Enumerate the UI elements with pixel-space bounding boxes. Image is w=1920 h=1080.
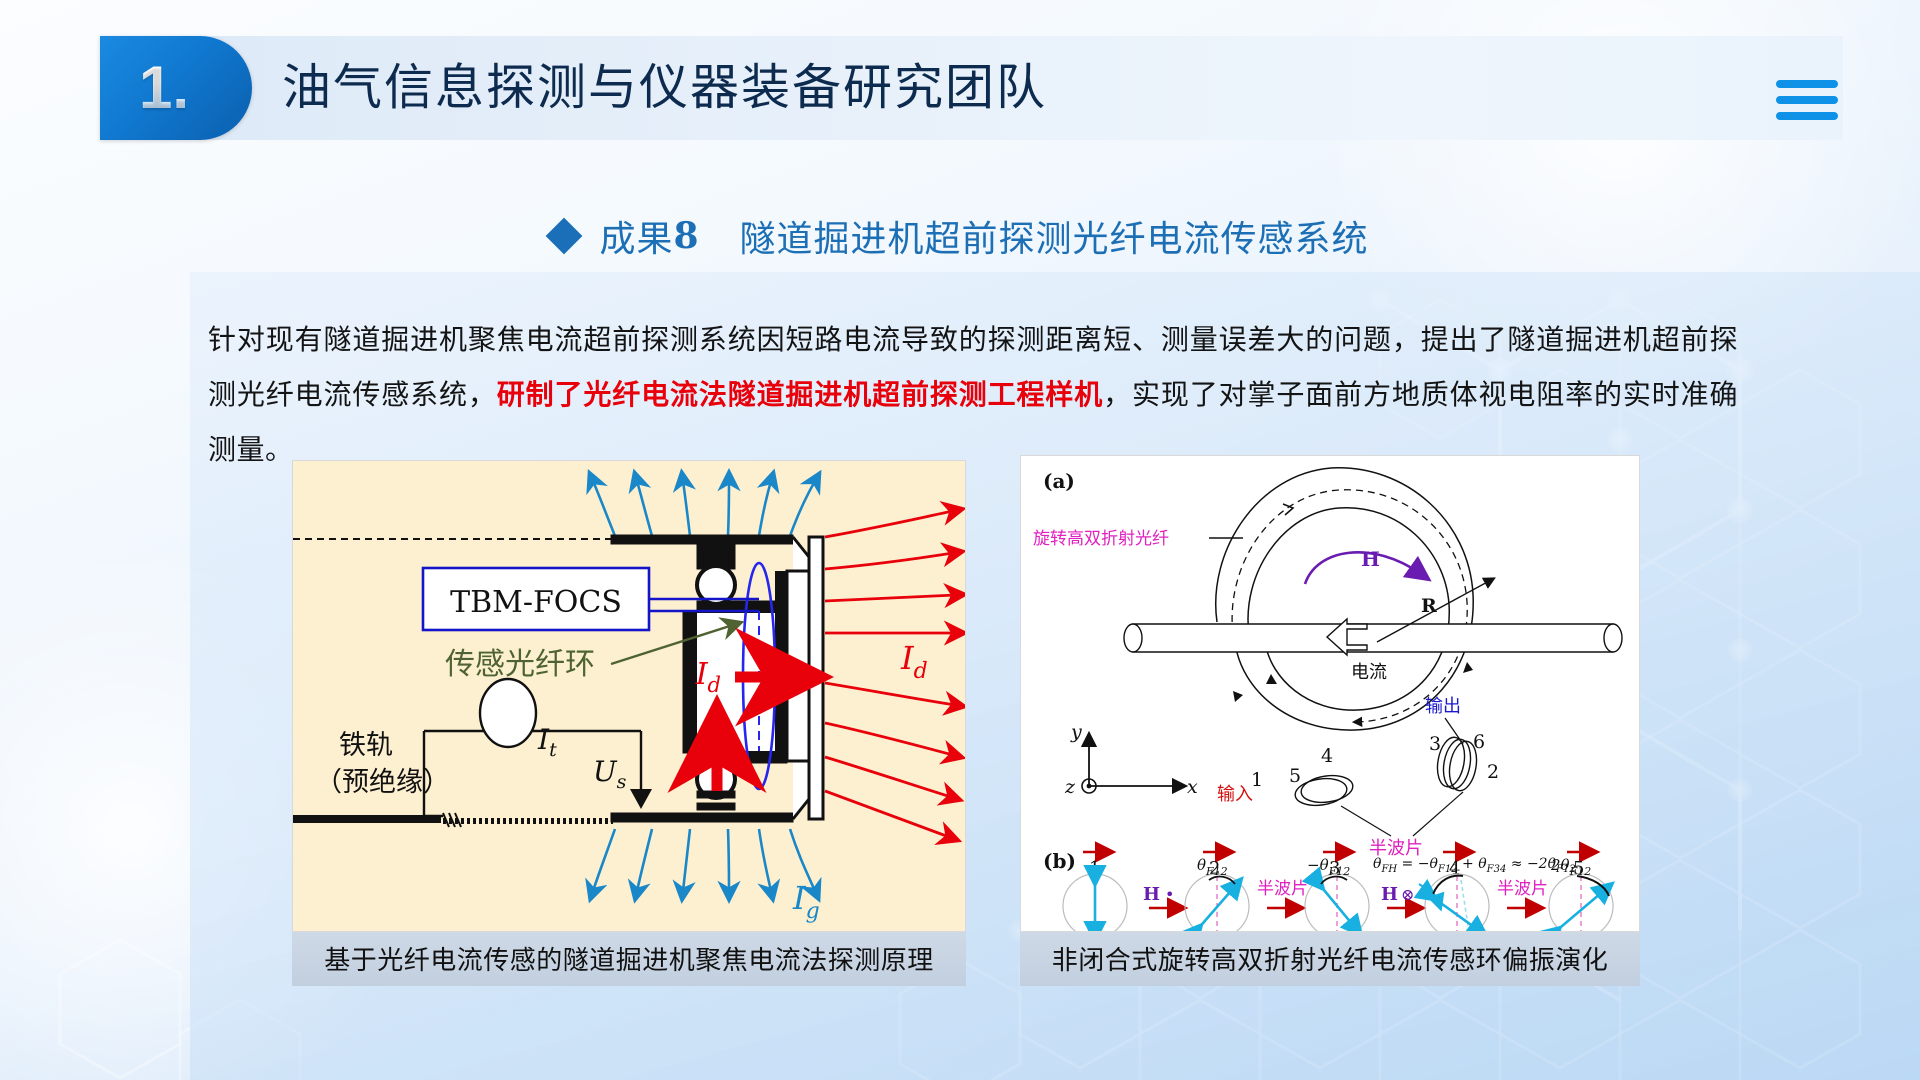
panel-a-tag: (a) bbox=[1043, 469, 1075, 493]
node-1: 1 bbox=[1251, 769, 1263, 791]
waveplate-label-b2: 半波片 bbox=[1497, 879, 1548, 899]
subtitle-index: 8 bbox=[673, 215, 699, 257]
current-ig-label: Ig bbox=[792, 879, 820, 924]
page-title: 油气信息探测与仪器装备研究团队 bbox=[282, 48, 1047, 119]
figure-left-image: TBM-FOCS 传感光纤环 Id bbox=[292, 460, 966, 932]
node-5: 5 bbox=[1289, 765, 1301, 787]
svg-text:1: 1 bbox=[1089, 858, 1100, 879]
polarization-state-5: 5 2θF12 bbox=[1549, 852, 1613, 932]
input-label: 输入 bbox=[1217, 784, 1253, 805]
menu-bar-1 bbox=[1776, 80, 1838, 88]
axis-y-label: y bbox=[1070, 721, 1082, 743]
magnetic-field-label: H bbox=[1361, 547, 1380, 571]
node-4: 4 bbox=[1321, 745, 1333, 767]
figure-left-caption: 基于光纤电流传感的隧道掘进机聚焦电流法探测原理 bbox=[292, 932, 966, 986]
section-number-badge: 1. bbox=[100, 36, 252, 140]
subtitle-text: 隧道掘进机超前探测光纤电流传感系统 bbox=[740, 210, 1369, 262]
rail-label: 铁轨 bbox=[339, 730, 393, 761]
polarization-state-2: 2 θF12 bbox=[1185, 852, 1249, 932]
svg-text:⊗: ⊗ bbox=[1401, 885, 1414, 904]
figure-polarization-evolution: (a) 旋转高双折射光纤 H bbox=[1020, 455, 1640, 932]
svg-text:•: • bbox=[1165, 885, 1174, 904]
axis-x-label: x bbox=[1187, 776, 1198, 798]
radius-label: R bbox=[1421, 595, 1437, 617]
tbm-focs-label: TBM-FOCS bbox=[450, 585, 622, 620]
panel-b-tag: (b) bbox=[1043, 849, 1076, 873]
tbm-focs-diagram: TBM-FOCS 传感光纤环 Id bbox=[293, 461, 966, 932]
field-cross-label: H bbox=[1381, 884, 1398, 905]
section-number: 1. bbox=[139, 58, 189, 118]
rail-sub-label: （预绝缘） bbox=[315, 767, 450, 798]
polarization-state-3: 3 −θF12 bbox=[1305, 852, 1369, 932]
current-it-label: It bbox=[537, 723, 557, 761]
output-label: 输出 bbox=[1425, 696, 1461, 717]
figure-tbm-focs-principle: TBM-FOCS 传感光纤环 Id bbox=[292, 460, 966, 932]
current-label: 电流 bbox=[1351, 662, 1387, 683]
node-3: 3 bbox=[1429, 733, 1441, 755]
figure-right-image: (a) 旋转高双折射光纤 H bbox=[1020, 455, 1640, 932]
axis-z-label: z bbox=[1064, 776, 1076, 798]
slide-canvas: 1. 油气信息探测与仪器装备研究团队 成果 8 隧道掘进机超前探测光纤电流传感系… bbox=[0, 0, 1920, 1080]
voltage-us-label: Us bbox=[593, 755, 627, 793]
node-6: 6 bbox=[1473, 731, 1485, 753]
waveplate-label-b1: 半波片 bbox=[1257, 879, 1308, 899]
menu-bar-3 bbox=[1776, 112, 1838, 120]
menu-bar-2 bbox=[1776, 96, 1838, 104]
figure-right-caption: 非闭合式旋转高双折射光纤电流传感环偏振演化 bbox=[1020, 932, 1640, 986]
rotating-hibi-fiber-label: 旋转高双折射光纤 bbox=[1033, 529, 1169, 549]
sensing-fiber-ring-label: 传感光纤环 bbox=[445, 647, 595, 682]
body-paragraph: 针对现有隧道掘进机聚焦电流超前探测系统因短路电流导致的探测距离短、测量误差大的问… bbox=[208, 312, 1738, 477]
diamond-bullet-icon bbox=[546, 218, 583, 255]
polarization-diagram: (a) 旋转高双折射光纤 H bbox=[1021, 456, 1640, 932]
subtitle-row: 成果 8 隧道掘进机超前探测光纤电流传感系统 bbox=[0, 208, 1920, 264]
node-2: 2 bbox=[1487, 761, 1499, 783]
paragraph-highlight: 研制了光纤电流法隧道掘进机超前探测工程样机 bbox=[497, 378, 1103, 411]
subtitle-prefix: 成果 bbox=[599, 210, 673, 262]
faraday-formula: θFH = −θF12 + θF34 ≈ −2θF12 bbox=[1373, 856, 1576, 875]
hamburger-menu-icon[interactable] bbox=[1776, 80, 1838, 120]
current-id-far-label: Id bbox=[900, 639, 928, 684]
field-dot-label: H bbox=[1143, 884, 1160, 905]
